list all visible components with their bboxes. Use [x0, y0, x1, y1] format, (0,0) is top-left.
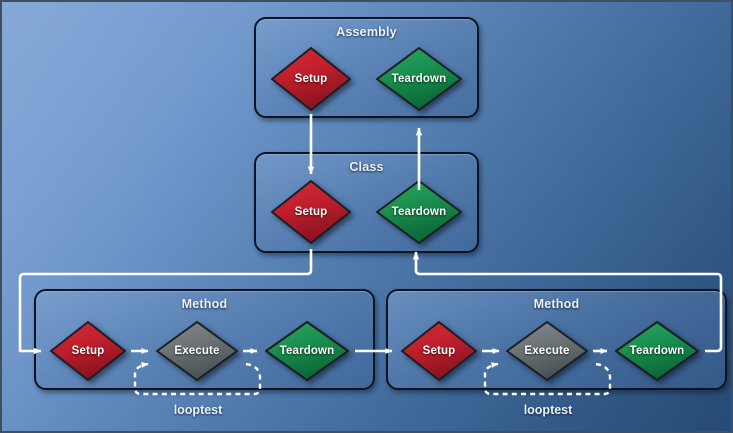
node-method-right-execute[interactable]: Execute	[502, 319, 592, 383]
panel-method-left-title: Method	[36, 297, 373, 311]
node-assembly-teardown-label: Teardown	[392, 73, 447, 85]
node-assembly-teardown[interactable]: Teardown	[372, 45, 466, 113]
node-assembly-setup-label: Setup	[295, 73, 328, 85]
node-method-left-setup[interactable]: Setup	[46, 319, 130, 383]
node-method-left-execute[interactable]: Execute	[152, 319, 242, 383]
node-method-right-teardown[interactable]: Teardown	[611, 319, 703, 383]
node-assembly-setup[interactable]: Setup	[267, 45, 355, 113]
node-class-teardown[interactable]: Teardown	[372, 178, 466, 246]
panel-method-right-title: Method	[388, 297, 725, 311]
diagram-canvas: Assembly Class Method Method	[0, 0, 733, 433]
looptest-label-left: looptest	[134, 403, 262, 417]
node-method-right-setup-label: Setup	[423, 345, 456, 357]
node-class-setup[interactable]: Setup	[267, 178, 355, 246]
node-method-left-setup-label: Setup	[72, 345, 105, 357]
node-method-left-teardown[interactable]: Teardown	[261, 319, 353, 383]
node-method-right-setup[interactable]: Setup	[397, 319, 481, 383]
node-method-left-teardown-label: Teardown	[280, 345, 335, 357]
node-class-setup-label: Setup	[295, 206, 328, 218]
node-method-right-teardown-label: Teardown	[630, 345, 685, 357]
node-method-left-execute-label: Execute	[174, 345, 219, 357]
panel-class-title: Class	[256, 160, 477, 174]
node-method-right-execute-label: Execute	[524, 345, 569, 357]
looptest-label-right: looptest	[484, 403, 612, 417]
panel-assembly-title: Assembly	[256, 25, 477, 39]
node-class-teardown-label: Teardown	[392, 206, 447, 218]
